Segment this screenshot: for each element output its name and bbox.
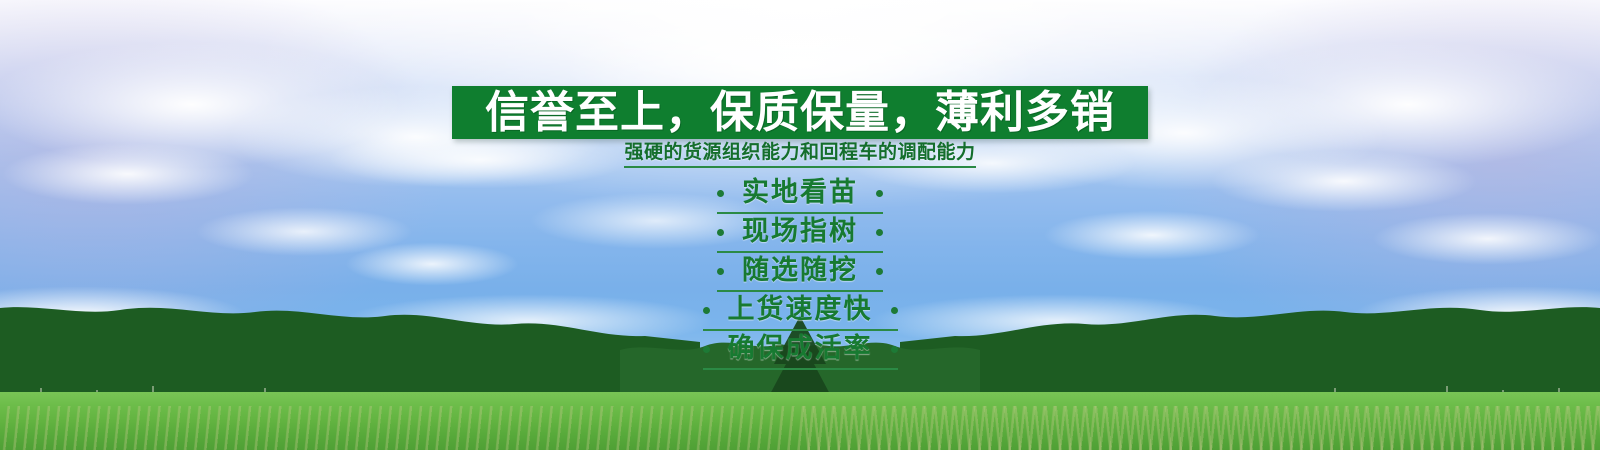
subtitle-text: 强硬的货源组织能力和回程车的调配能力 [624,143,975,168]
hero-banner: 信誉至上，保质保量，薄利多销 强硬的货源组织能力和回程车的调配能力 实地看苗 现… [0,0,1600,450]
bullet-dot-icon [717,229,724,236]
feature-item: 上货速度快 [703,295,898,331]
feature-item: 实地看苗 [717,178,883,214]
feature-item: 确保成活率 [703,334,898,370]
feature-label: 上货速度快 [728,295,873,325]
headline-banner-bar: 信誉至上，保质保量，薄利多销 [452,86,1148,139]
field-furrows-right [800,406,1600,450]
bullet-dot-icon [703,346,710,353]
bullet-dot-icon [703,307,710,314]
bullet-dot-icon [891,346,898,353]
subtitle-row: 强硬的货源组织能力和回程车的调配能力 [0,143,1600,168]
feature-item: 随选随挖 [717,256,883,292]
feature-label: 实地看苗 [742,178,858,208]
bullet-dot-icon [876,229,883,236]
bullet-dot-icon [891,307,898,314]
feature-item: 现场指树 [717,217,883,253]
feature-label: 随选随挖 [742,256,858,286]
feature-label: 确保成活率 [728,334,873,364]
bullet-dot-icon [876,268,883,275]
bullet-dot-icon [876,190,883,197]
bullet-dot-icon [717,268,724,275]
bullet-dot-icon [717,190,724,197]
feature-label: 现场指树 [742,217,858,247]
green-field [0,392,1600,450]
headline-text: 信誉至上，保质保量，薄利多销 [485,91,1115,135]
feature-list: 实地看苗 现场指树 随选随挖 上货速度快 确保成活率 [0,178,1600,373]
